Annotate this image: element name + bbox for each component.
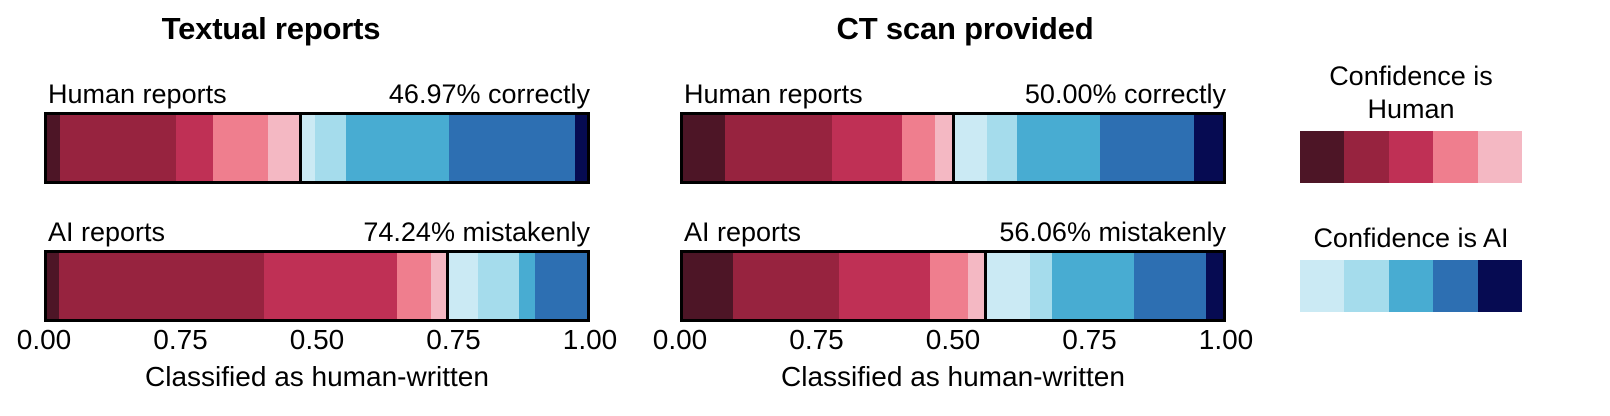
bar-segment (264, 253, 397, 319)
bar-segment (449, 115, 574, 181)
bar-segment (346, 115, 450, 181)
x-axis-title: Classified as human-written (44, 360, 590, 394)
panel-title-textual: Textual reports (0, 10, 586, 48)
x-axis-tick-label: 0.75 (789, 324, 844, 356)
bar-labels: AI reports 56.06% mistakenly (680, 216, 1226, 250)
x-axis-tick-label: 1.00 (1199, 324, 1254, 356)
bar-segment (930, 253, 968, 319)
legend-swatches (1300, 260, 1522, 312)
bar-segment (1052, 253, 1134, 319)
legend-title: Confidence is Human (1300, 60, 1522, 126)
legend-swatch (1478, 260, 1522, 312)
bar-segment (987, 115, 1017, 181)
bar-value-label: 46.97% correctly (389, 78, 590, 110)
bar-segment (1194, 115, 1223, 181)
bar-segment (478, 253, 519, 319)
x-axis-tick-label: 0.00 (17, 324, 72, 356)
x-axis-textual: Classified as human-written 0.000.750.50… (44, 324, 590, 384)
stacked-bar (680, 250, 1226, 322)
legend-swatch (1478, 131, 1522, 183)
bar-segment (301, 115, 315, 181)
bar-segment (176, 115, 214, 181)
bar-segment (733, 253, 839, 319)
legend-swatch (1300, 260, 1344, 312)
bar-segment (935, 115, 953, 181)
bar-segment (902, 115, 935, 181)
bar-segment (683, 253, 733, 319)
x-axis-tick-label: 0.50 (290, 324, 345, 356)
panel-ct-scan-provided: CT scan provided Human reports 50.00% co… (636, 0, 1266, 416)
legend-swatches (1300, 131, 1522, 183)
x-axis-tick-label: 0.00 (653, 324, 708, 356)
bar-row-label: Human reports (48, 78, 227, 110)
x-axis-ct: Classified as human-written 0.000.750.50… (680, 324, 1226, 384)
bar-segment (448, 253, 478, 319)
bar-labels: Human reports 50.00% correctly (680, 78, 1226, 112)
bar-segment (1030, 253, 1053, 319)
bar-row-label: Human reports (684, 78, 863, 110)
bar-segment (832, 115, 902, 181)
bar-segment (47, 253, 59, 319)
bar-labels: Human reports 46.97% correctly (44, 78, 590, 112)
bar-value-label: 50.00% correctly (1025, 78, 1226, 110)
bar-segment (1206, 253, 1223, 319)
panel-title-ct-scan: CT scan provided (650, 10, 1280, 48)
bar-group-ai-ct: AI reports 56.06% mistakenly (680, 216, 1226, 322)
legend-swatch (1300, 131, 1344, 183)
stacked-bar (680, 112, 1226, 184)
bar-segment (268, 115, 300, 181)
legend-swatch (1344, 260, 1388, 312)
x-axis-tick-label: 0.50 (926, 324, 981, 356)
bar-split-divider (984, 253, 987, 319)
x-axis-title: Classified as human-written (680, 360, 1226, 394)
bar-split-divider (299, 115, 302, 181)
legend-title: Confidence is AI (1300, 222, 1522, 255)
bar-segment (1017, 115, 1101, 181)
bar-split-divider (952, 115, 955, 181)
bar-segment (683, 115, 725, 181)
bar-segment (953, 115, 987, 181)
bar-segment (535, 253, 587, 319)
bar-segment (60, 115, 176, 181)
bar-row-label: AI reports (48, 216, 165, 248)
bar-segment (47, 115, 60, 181)
bar-row-label: AI reports (684, 216, 801, 248)
x-axis-tick-label: 1.00 (563, 324, 618, 356)
bar-segment (575, 115, 587, 181)
bar-segment (1100, 115, 1193, 181)
bar-group-human-ct: Human reports 50.00% correctly (680, 78, 1226, 184)
legend-confidence-ai: Confidence is AI (1300, 222, 1522, 312)
stacked-bar (44, 112, 590, 184)
x-axis-tick-label: 0.75 (153, 324, 208, 356)
legend-swatch (1344, 131, 1388, 183)
bar-segment (1134, 253, 1206, 319)
panel-textual-reports: Textual reports Human reports 46.97% cor… (0, 0, 630, 416)
legend-swatch (1433, 131, 1477, 183)
bar-segment (397, 253, 432, 319)
bar-segment (213, 115, 268, 181)
figure-root: Textual reports Human reports 46.97% cor… (0, 0, 1610, 416)
bar-value-label: 56.06% mistakenly (999, 216, 1226, 248)
stacked-bar (44, 250, 590, 322)
bar-group-ai-textual: AI reports 74.24% mistakenly (44, 216, 590, 322)
bar-value-label: 74.24% mistakenly (363, 216, 590, 248)
x-axis-tick-label: 0.75 (1062, 324, 1117, 356)
bar-segment (59, 253, 264, 319)
legend-confidence-human: Confidence is Human (1300, 60, 1522, 183)
x-axis-tick-label: 0.75 (426, 324, 481, 356)
bar-group-human-textual: Human reports 46.97% correctly (44, 78, 590, 184)
legend-swatch (1389, 260, 1433, 312)
bar-split-divider (446, 253, 449, 319)
bar-segment (519, 253, 535, 319)
bar-labels: AI reports 74.24% mistakenly (44, 216, 590, 250)
legend-swatch (1433, 260, 1477, 312)
bar-segment (986, 253, 1030, 319)
legend-swatch (1389, 131, 1433, 183)
bar-segment (315, 115, 346, 181)
bar-segment (725, 115, 832, 181)
bar-segment (839, 253, 931, 319)
